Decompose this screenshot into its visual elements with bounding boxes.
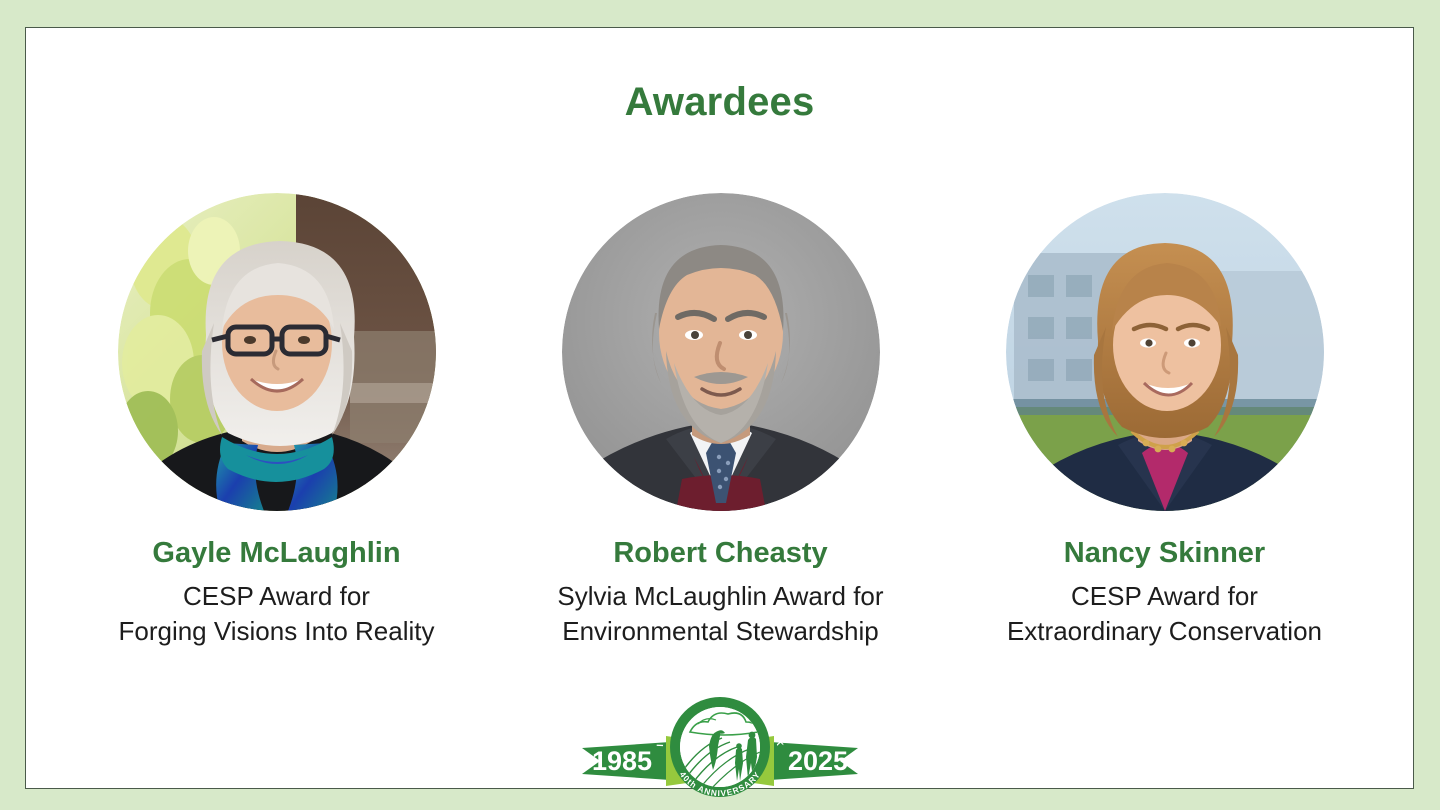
awardee-name: Robert Cheasty	[613, 537, 827, 570]
portrait-gayle-mclaughlin-image	[118, 193, 436, 511]
portrait-robert-cheasty-image	[562, 193, 880, 511]
award-line-2: Forging Visions Into Reality	[118, 614, 434, 649]
avatar	[118, 193, 436, 511]
logo-icon: 1985 2025	[570, 690, 870, 800]
award-title: Sylvia McLaughlin Award for Environmenta…	[557, 579, 883, 648]
award-line-2: Environmental Stewardship	[557, 614, 883, 649]
avatar	[1006, 193, 1324, 511]
awardee-card: Nancy Skinner CESP Award for Extraordina…	[945, 193, 1385, 649]
awardee-card: Gayle McLaughlin CESP Award for Forging …	[57, 193, 497, 649]
awardee-list: Gayle McLaughlin CESP Award for Forging …	[26, 193, 1415, 649]
ribbon-right-year: 2025	[787, 746, 847, 776]
portrait-nancy-skinner-image	[1006, 193, 1324, 511]
award-line-1: CESP Award for	[183, 581, 370, 611]
page-title: Awardees	[26, 80, 1413, 125]
award-line-1: Sylvia McLaughlin Award for	[557, 581, 883, 611]
award-line-2: Extraordinary Conservation	[1007, 614, 1322, 649]
avatar	[562, 193, 880, 511]
award-line-1: CESP Award for	[1071, 581, 1258, 611]
awardee-card: Robert Cheasty Sylvia McLaughlin Award f…	[501, 193, 941, 649]
cesp-anniversary-logo: 1985 2025	[570, 690, 870, 800]
awardee-name: Gayle McLaughlin	[152, 537, 400, 570]
content-panel: Awardees	[25, 27, 1414, 789]
award-title: CESP Award for Forging Visions Into Real…	[118, 579, 434, 648]
slide-root: Awardees	[0, 0, 1440, 810]
ribbon-left-year: 1985	[591, 746, 651, 776]
awardee-name: Nancy Skinner	[1064, 537, 1265, 570]
award-title: CESP Award for Extraordinary Conservatio…	[1007, 579, 1322, 648]
